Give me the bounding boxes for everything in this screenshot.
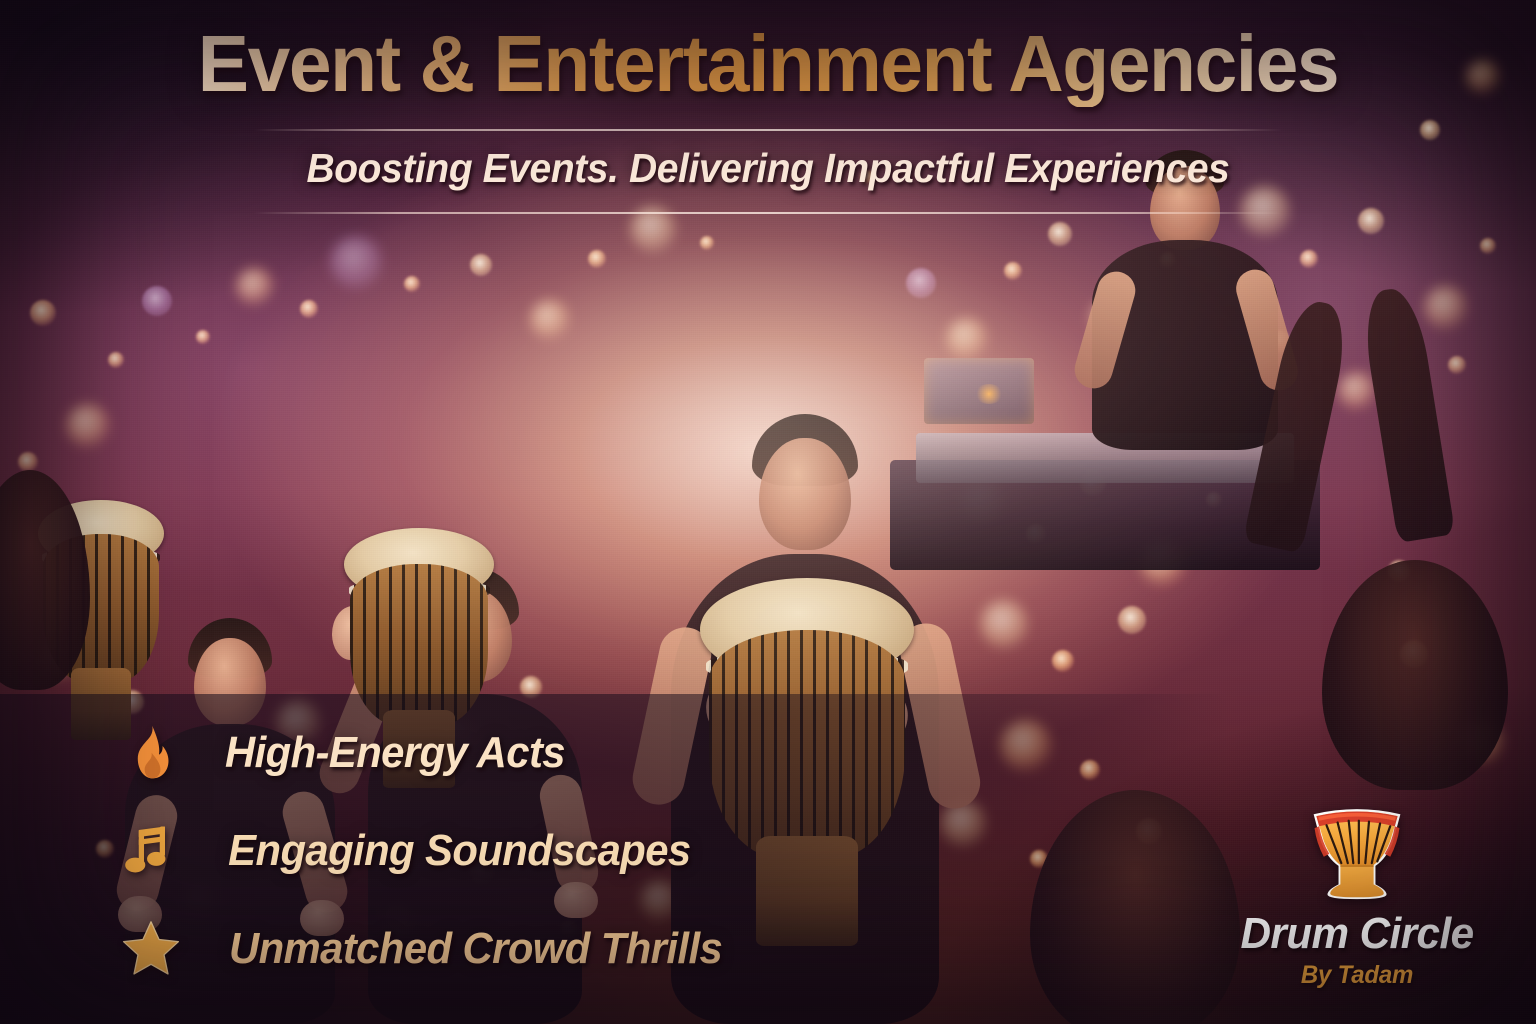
crowd-head-right	[1322, 560, 1508, 790]
feature-label: Unmatched Crowd Thrills	[229, 924, 722, 974]
page-title: Event & Entertainment Agencies	[31, 22, 1506, 107]
crowd-raised-hand-right	[1359, 285, 1456, 543]
djembe-drum-icon	[1301, 805, 1413, 901]
feature-item-high-energy-acts: High-Energy Acts	[120, 722, 735, 784]
divider-bottom	[254, 212, 1282, 214]
promotional-poster: Event & Entertainment Agencies Boosting …	[0, 0, 1536, 1024]
star-icon	[120, 918, 182, 980]
brand-name: Drum Circle	[1237, 911, 1477, 957]
headline-block: Event & Entertainment Agencies Boosting …	[0, 0, 1536, 214]
feature-label: Engaging Soundscapes	[228, 826, 690, 876]
feature-item-unmatched-crowd-thrills: Unmatched Crowd Thrills	[120, 918, 735, 980]
music-note-icon	[120, 820, 182, 882]
page-subtitle: Boosting Events. Delivering Impactful Ex…	[38, 131, 1497, 192]
feature-label: High-Energy Acts	[225, 728, 565, 778]
brand-byline: By Tadam	[1237, 961, 1477, 990]
feature-item-engaging-soundscapes: Engaging Soundscapes	[120, 820, 735, 882]
flame-icon	[120, 722, 182, 784]
feature-list: High-Energy Acts Engaging Soundscapes	[120, 722, 735, 980]
brand-logo[interactable]: Drum Circle By Tadam	[1232, 805, 1482, 990]
